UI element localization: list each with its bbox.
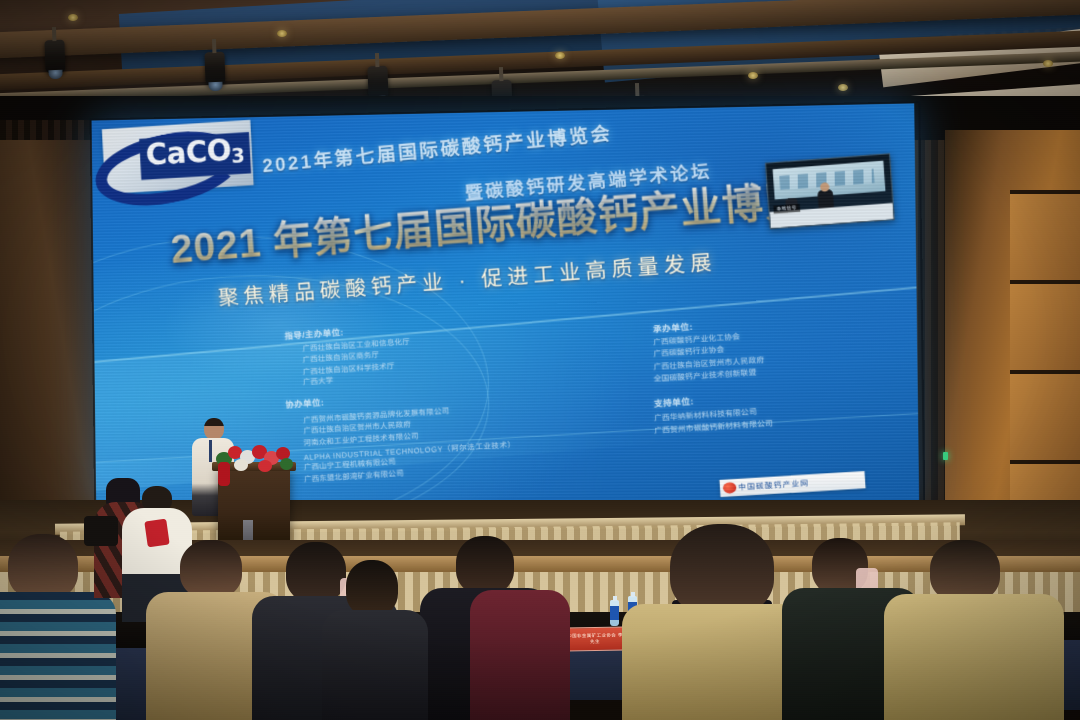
audience-member xyxy=(890,540,1050,720)
wood-panel xyxy=(1010,280,1080,370)
ceiling-downlight-icon xyxy=(68,14,78,21)
speaker-head xyxy=(204,418,224,440)
logo-text-main: CaCO xyxy=(145,133,232,173)
exit-indicator-icon xyxy=(943,452,948,460)
logo-text-subscript: 3 xyxy=(231,143,245,167)
wood-panel xyxy=(1010,370,1080,460)
conference-photo: CaCO3 2021年第七届国际碳酸钙产业博览会 暨碳酸钙研发高端学术论坛 20… xyxy=(0,0,1080,720)
flower-arrangement xyxy=(212,442,300,476)
wood-panel xyxy=(1010,190,1080,280)
audience-head xyxy=(346,560,398,616)
audience-head xyxy=(8,534,78,600)
audience-member xyxy=(326,560,422,720)
ceiling-downlight-icon xyxy=(555,52,565,59)
ceiling-downlight-icon xyxy=(748,72,758,79)
stage-light-icon xyxy=(204,52,225,87)
name-card-text: 中国非金属矿工业协会 李先生 xyxy=(566,632,624,645)
right-wood-wall xyxy=(945,130,1080,560)
logo-text: CaCO3 xyxy=(139,132,251,180)
audience-body xyxy=(322,610,428,720)
ceiling-downlight-icon xyxy=(838,84,848,91)
sponsor-heading-supporters: 支持单位: xyxy=(654,395,695,410)
audience-member xyxy=(470,576,570,720)
audience-body xyxy=(470,590,570,720)
sponsor-item: 广西大学 xyxy=(302,375,333,388)
audience-body xyxy=(0,592,116,720)
left-wall-panel xyxy=(0,140,96,560)
caco3-logo: CaCO3 xyxy=(102,120,254,194)
footer-logo-text: 中国碳酸钙产业网 xyxy=(738,478,810,493)
stage-light-icon xyxy=(44,40,65,75)
sponsor-heading-coorganizers: 协办单位: xyxy=(285,396,324,410)
camera xyxy=(84,516,118,546)
ceiling-downlight-icon xyxy=(277,30,287,37)
picture-in-picture-feed: 本地信号 xyxy=(765,153,895,229)
red-circle-logo-icon xyxy=(723,482,737,494)
banner-line-1: 2021年第七届国际碳酸钙产业博览会 xyxy=(261,119,613,178)
audience-head xyxy=(670,524,774,616)
audience-head xyxy=(180,540,242,598)
name-card: 中国非金属矿工业协会 李先生 xyxy=(565,626,625,651)
audience-head xyxy=(930,540,1000,602)
audience-body xyxy=(884,594,1064,720)
water-bottle xyxy=(610,600,619,626)
ceiling-downlight-icon xyxy=(1043,60,1053,67)
